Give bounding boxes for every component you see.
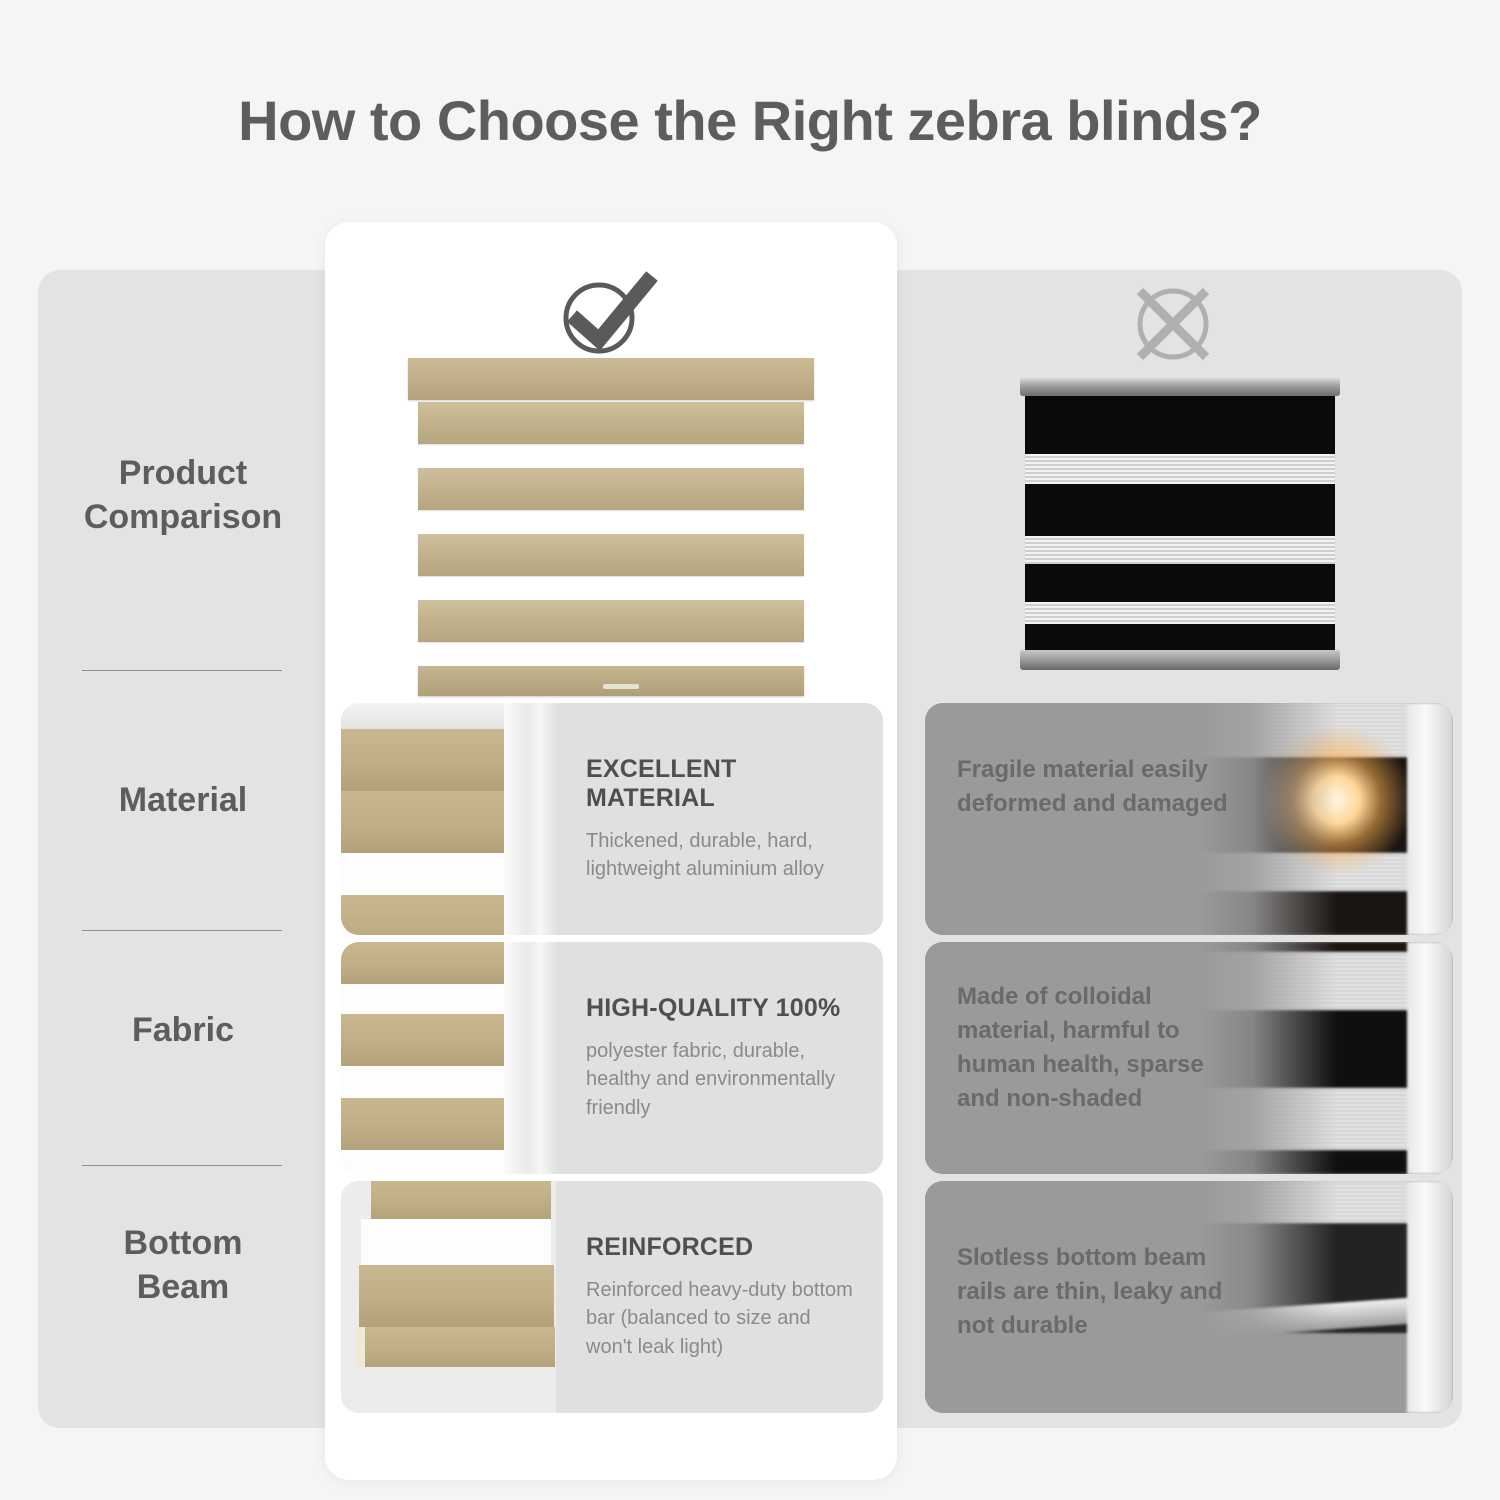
good-bottom-beam-body: Reinforced heavy-duty bottom bar (balanc…: [586, 1276, 861, 1361]
blind-sheer-band: [1025, 536, 1335, 564]
blind-sheer-band: [1025, 602, 1335, 624]
good-product-image: [408, 358, 814, 698]
sidebar-divider: [82, 1165, 282, 1166]
blind-white-band: [361, 1219, 551, 1265]
blind-slat: [418, 534, 804, 576]
sidebar-item-bottom-beam: BottomBeam: [38, 1200, 328, 1330]
blind-opaque-band: [1025, 564, 1335, 602]
sidebar-item-fabric: Fabric: [38, 970, 328, 1090]
blind-beige-band: [341, 895, 506, 935]
blind-beige-band: [341, 729, 506, 791]
blind-beige-band: [341, 1014, 506, 1066]
window-head-trim: [341, 703, 519, 729]
check-circle-icon: [552, 268, 662, 360]
blind-opaque-band: [1025, 624, 1335, 650]
blind-beige-band: [341, 1098, 506, 1150]
sidebar-divider: [82, 930, 282, 931]
sidebar-label-material: Material: [119, 778, 248, 822]
blind-opaque-band: [1025, 484, 1335, 536]
bottom-bar-endcap: [355, 1327, 365, 1367]
blind-white-band: [341, 853, 506, 895]
bad-bottom-beam-text: Slotless bottom beam rails are thin, lea…: [957, 1241, 1242, 1343]
good-material-image: [341, 703, 556, 935]
sidebar-label-product-comparison: ProductComparison: [84, 451, 282, 539]
window-frame: [504, 942, 556, 1174]
page-title: How to Choose the Right zebra blinds?: [0, 88, 1500, 153]
blind-bottom-rail: [1020, 650, 1340, 670]
blind-sheer-band: [1025, 454, 1335, 484]
blind-white-band: [341, 984, 506, 1014]
bad-card-bottom-beam: Slotless bottom beam rails are thin, lea…: [925, 1181, 1453, 1413]
blind-beige-band: [359, 1265, 554, 1327]
good-fabric-title: HIGH-QUALITY 100%: [586, 994, 861, 1023]
bad-card-material: Fragile material easily deformed and dam…: [925, 703, 1453, 935]
blind-beige-band: [341, 791, 506, 853]
good-card-material: EXCELLENT MATERIAL Thickened, durable, h…: [341, 703, 883, 935]
blind-white-band: [341, 1066, 506, 1098]
blind-headrail: [1020, 378, 1340, 396]
blind-bottom-bar: [355, 1327, 555, 1367]
blind-opaque-band: [1025, 396, 1335, 454]
good-material-body: Thickened, durable, hard, lightweight al…: [586, 827, 861, 884]
sidebar-label-bottom-beam: BottomBeam: [124, 1221, 243, 1309]
sidebar-item-product-comparison: ProductComparison: [38, 430, 328, 560]
good-fabric-body: polyester fabric, durable, healthy and e…: [586, 1037, 861, 1122]
blind-slat: [418, 600, 804, 642]
blind-white-band: [341, 1150, 506, 1174]
good-card-fabric: HIGH-QUALITY 100% polyester fabric, dura…: [341, 942, 883, 1174]
blind-beige-band: [371, 1181, 551, 1219]
good-bottom-beam-title: REINFORCED: [586, 1233, 861, 1262]
good-material-title: EXCELLENT MATERIAL: [586, 755, 861, 813]
bad-material-text: Fragile material easily deformed and dam…: [957, 753, 1242, 821]
blind-slat: [418, 468, 804, 510]
blind-slat: [418, 402, 804, 444]
blind-bottom-bar: [418, 666, 804, 696]
good-bottom-beam-image: [341, 1181, 556, 1413]
good-fabric-image: [341, 942, 556, 1174]
blind-valance: [408, 358, 814, 400]
good-card-bottom-beam: REINFORCED Reinforced heavy-duty bottom …: [341, 1181, 883, 1413]
sidebar-item-material: Material: [38, 740, 328, 860]
bad-product-image: [1020, 378, 1340, 670]
sidebar-label-fabric: Fabric: [132, 1008, 234, 1052]
bad-fabric-text: Made of colloidal material, harmful to h…: [957, 980, 1242, 1116]
x-circle-icon: [1118, 278, 1228, 370]
blind-beige-band: [341, 942, 506, 984]
sidebar-divider: [82, 670, 282, 671]
window-frame: [504, 703, 556, 935]
category-sidebar: ProductComparison Material Fabric Bottom…: [38, 270, 328, 1428]
bad-card-fabric: Made of colloidal material, harmful to h…: [925, 942, 1453, 1174]
